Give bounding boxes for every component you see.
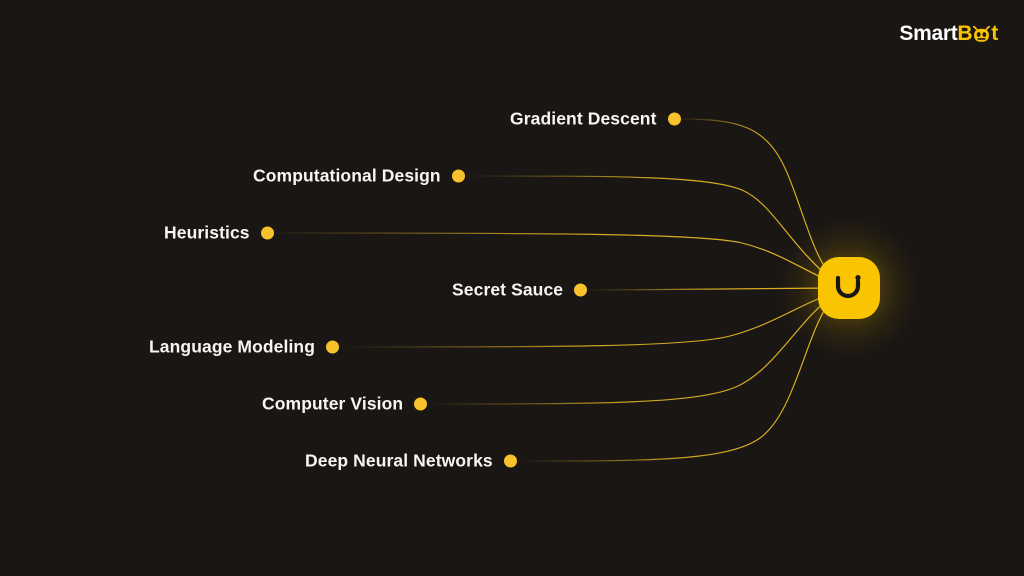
mindmap-node-secret-sauce[interactable]: Secret Sauce [452,280,587,301]
mindmap-node-heuristics[interactable]: Heuristics [164,223,274,244]
node-label-computer-vision: Computer Vision [262,394,403,415]
node-dot-gradient-descent[interactable] [668,113,681,126]
node-label-deep-neural-networks: Deep Neural Networks [305,451,493,472]
connector-deep-neural-networks [520,299,832,461]
mindmap-node-computational-design[interactable]: Computational Design [253,166,465,187]
node-dot-computational-design[interactable] [452,170,465,183]
node-label-heuristics: Heuristics [164,223,250,244]
mindmap-node-computer-vision[interactable]: Computer Vision [262,394,427,415]
node-dot-language-modeling[interactable] [326,341,339,354]
brand-text-t: t [991,23,998,44]
mindmap-node-gradient-descent[interactable]: Gradient Descent [510,109,681,130]
connector-computer-vision [427,296,833,404]
node-dot-heuristics[interactable] [261,227,274,240]
brand-text-smart: Smart [899,23,957,44]
brand-logo: Smart B t [899,18,998,48]
mindmap-node-language-modeling[interactable]: Language Modeling [149,337,339,358]
connector-computational-design [466,176,832,280]
node-label-computational-design: Computational Design [253,166,441,187]
node-label-language-modeling: Language Modeling [149,337,315,358]
node-dot-secret-sauce[interactable] [574,284,587,297]
smiley-face-icon [833,275,865,301]
connector-heuristics [264,233,833,283]
node-label-secret-sauce: Secret Sauce [452,280,563,301]
node-label-gradient-descent: Gradient Descent [510,109,657,130]
connector-language-modeling [342,293,834,347]
robot-head-icon [972,26,991,45]
brand-text-b: B [957,23,972,44]
smartbot-hub-node[interactable] [818,257,880,319]
mindmap-canvas: Gradient DescentComputational DesignHeur… [0,0,1024,576]
mindmap-node-deep-neural-networks[interactable]: Deep Neural Networks [305,451,517,472]
node-dot-deep-neural-networks[interactable] [504,455,517,468]
node-dot-computer-vision[interactable] [414,398,427,411]
